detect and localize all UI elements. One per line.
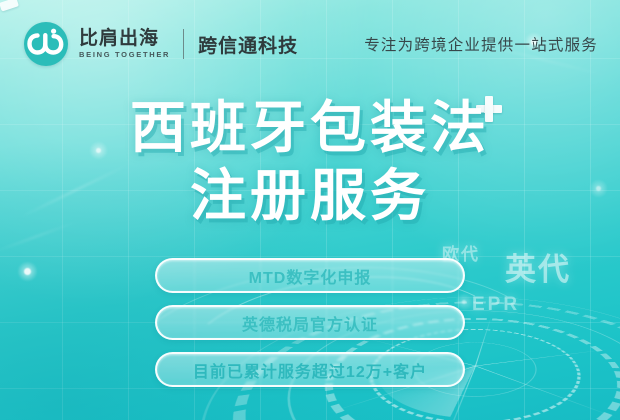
headline-line-2: 注册服务 bbox=[0, 164, 620, 228]
brand-subname: 跨信通科技 bbox=[198, 31, 298, 58]
promo-banner: 欧代 英代 EPR 比肩出海 BEING TOGETHER 跨信通科技 专注为跨… bbox=[0, 0, 620, 420]
brand-logo[interactable]: 比肩出海 BEING TOGETHER 跨信通科技 bbox=[24, 22, 298, 66]
brand-name-cn: 比肩出海 bbox=[79, 29, 170, 49]
feature-pill-list: MTD数字化申报 英德税局官方认证 目前已累计服务超过12万+客户 bbox=[0, 258, 620, 387]
brand-name-en: BEING TOGETHER bbox=[79, 50, 170, 59]
brand-divider bbox=[183, 29, 184, 59]
headline-block: 西班牙包装法 注册服务 bbox=[0, 96, 620, 229]
feature-pill-customer-count[interactable]: 目前已累计服务超过12万+客户 bbox=[155, 352, 465, 387]
banner-header: 比肩出海 BEING TOGETHER 跨信通科技 专注为跨境企业提供一站式服务 bbox=[0, 0, 620, 88]
being-together-circle-logo-icon bbox=[24, 22, 68, 66]
feature-pill-certification[interactable]: 英德税局官方认证 bbox=[155, 305, 465, 340]
brand-text: 比肩出海 BEING TOGETHER bbox=[79, 29, 170, 60]
feature-pill-mtd[interactable]: MTD数字化申报 bbox=[155, 258, 465, 293]
headline-line-1: 西班牙包装法 bbox=[0, 96, 620, 160]
header-tagline: 专注为跨境企业提供一站式服务 bbox=[364, 33, 598, 55]
